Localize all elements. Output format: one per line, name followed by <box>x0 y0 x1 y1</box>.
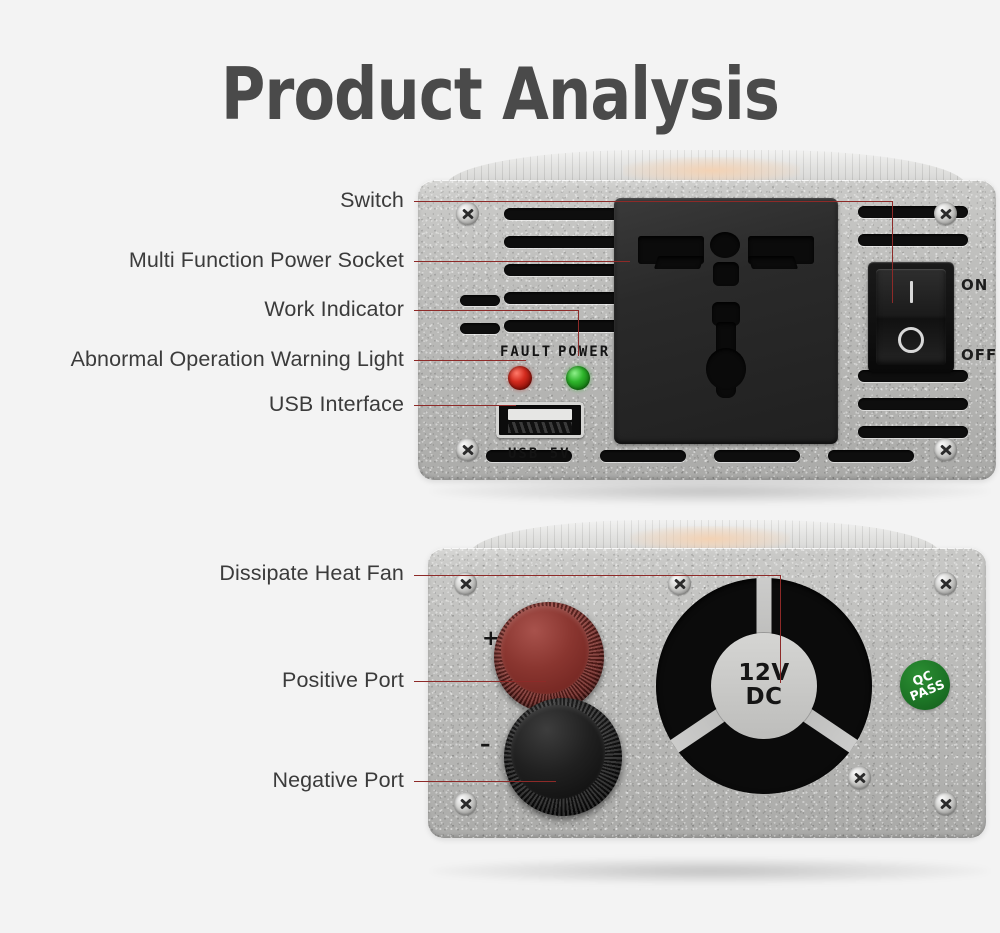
vent-slot <box>504 264 628 276</box>
callout-label-heat-fan: Dissipate Heat Fan <box>120 561 404 586</box>
switch-off-label: OFF <box>961 346 996 364</box>
power-switch-rocker[interactable] <box>876 269 946 365</box>
socket-ground-bulb <box>706 348 746 390</box>
switch-on-symbol <box>910 281 913 303</box>
screw-bottom-left <box>454 792 477 815</box>
fault-indicator-led <box>508 366 532 390</box>
usb-tongue <box>508 409 571 420</box>
fan-voltage-label: 12V <box>738 662 789 686</box>
front-face: ON OFF FAULT POWER USB 5V <box>418 180 996 480</box>
leader-positive-port <box>414 681 546 682</box>
vent-slot <box>858 234 968 246</box>
leader-warning-light <box>414 360 526 361</box>
callout-label-usb-interface: USB Interface <box>120 392 404 417</box>
vent-slot <box>828 450 914 462</box>
vent-slot <box>504 320 628 332</box>
power-silkscreen: POWER <box>558 344 610 360</box>
rear-face: 12V DC + – QC PASS <box>428 548 986 838</box>
page-title: Product Analysis <box>80 52 920 136</box>
callout-label-power-socket: Multi Function Power Socket <box>60 248 404 273</box>
usb-silkscreen: USB 5V <box>508 446 571 462</box>
vent-slot <box>504 236 628 248</box>
screw-bottom-right <box>934 792 957 815</box>
leader-heat-fan <box>414 575 780 576</box>
positive-port-terminal[interactable] <box>494 602 604 712</box>
vent-slot <box>504 208 628 220</box>
screw-top-right <box>934 202 957 225</box>
screw-top-left <box>456 202 479 225</box>
qc-pass-text: QC PASS <box>903 666 946 703</box>
fan-current-type-label: DC <box>746 686 783 710</box>
leader-usb-interface <box>414 405 516 406</box>
socket-pin-hole-mid <box>713 262 739 286</box>
vent-slot <box>858 426 968 438</box>
qc-pass-sticker: QC PASS <box>900 660 950 710</box>
leader-switch-vertical <box>892 201 893 303</box>
socket-slot-left-angled <box>654 256 704 269</box>
callout-label-positive-port: Positive Port <box>120 668 404 693</box>
screw-top-right <box>934 572 957 595</box>
socket-slot-right-angled <box>748 256 798 269</box>
screw-bottom-left <box>456 438 479 461</box>
vent-slot-small <box>460 323 500 334</box>
fault-silkscreen: FAULT <box>500 344 552 360</box>
callout-label-switch: Switch <box>120 188 404 213</box>
power-switch-frame <box>868 262 954 372</box>
inverter-rear-unit: 12V DC + – QC PASS <box>418 520 996 870</box>
leader-switch <box>414 201 892 202</box>
socket-pin-hole-upper <box>710 232 740 258</box>
fan-hub: 12V DC <box>711 633 817 739</box>
callout-label-negative-port: Negative Port <box>120 768 404 793</box>
dissipate-heat-fan: 12V DC <box>656 578 872 794</box>
leader-work-indicator-vertical <box>578 310 579 356</box>
power-indicator-led <box>566 366 590 390</box>
switch-on-label: ON <box>961 276 988 294</box>
screw-bottom-right <box>934 438 957 461</box>
leader-negative-port <box>414 781 556 782</box>
callout-label-warning-light: Abnormal Operation Warning Light <box>20 347 404 372</box>
vent-slot-small <box>460 295 500 306</box>
screw-bottom-mid <box>848 766 871 789</box>
multi-function-power-socket[interactable] <box>614 198 838 444</box>
vent-slot <box>858 398 968 410</box>
usb-interface-port[interactable] <box>496 402 584 438</box>
vent-slot <box>504 292 628 304</box>
usb-contacts <box>508 422 571 433</box>
vent-slot <box>714 450 800 462</box>
product-analysis-page: Product Analysis <box>0 0 1000 933</box>
negative-port-terminal[interactable] <box>504 698 622 816</box>
leader-heat-fan-vertical <box>780 575 781 683</box>
callout-label-work-indicator: Work Indicator <box>120 297 404 322</box>
leader-work-indicator <box>414 310 578 311</box>
leader-power-socket <box>414 261 630 262</box>
switch-off-symbol <box>898 327 924 353</box>
vent-slot <box>600 450 686 462</box>
negative-symbol: – <box>480 732 491 756</box>
